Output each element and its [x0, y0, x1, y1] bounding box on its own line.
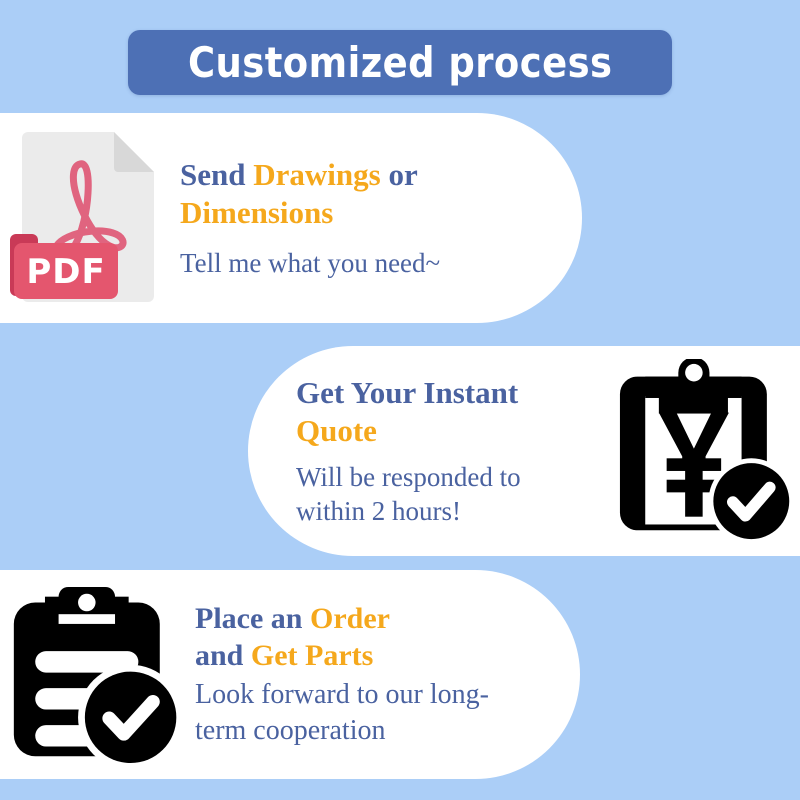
step-2-subtext: Will be responded to within 2 hours! — [296, 460, 586, 528]
heading-segment-highlight: Order — [310, 602, 390, 635]
heading-segment: Send — [180, 157, 253, 192]
pdf-file-icon: PDF — [0, 126, 180, 311]
step-3-heading: Place an Order and Get Parts — [195, 601, 495, 674]
step-card-3: Place an Order and Get Parts Look forwar… — [0, 570, 580, 779]
step-card-1: PDF Send Drawings or Dimensions Tell me … — [0, 113, 582, 323]
heading-segment-highlight: Drawings — [253, 157, 380, 192]
pdf-file-icon-graphic: PDF — [10, 126, 170, 311]
heading-segment-highlight: Get Parts — [251, 639, 373, 672]
heading-segment: Place an — [195, 602, 310, 635]
clipboard-yen-check-icon — [608, 359, 800, 544]
step-1-heading: Send Drawings or Dimensions — [180, 156, 440, 232]
step-1-text: Send Drawings or Dimensions Tell me what… — [180, 156, 440, 280]
step-3-text: Place an Order and Get Parts Look forwar… — [195, 601, 495, 748]
step-2-text: Get Your Instant Quote Will be responded… — [296, 374, 586, 528]
heading-segment: Get Your Instant — [296, 375, 518, 410]
svg-text:PDF: PDF — [26, 252, 105, 292]
clipboard-check-icon — [0, 585, 195, 765]
step-1-subtext: Tell me what you need~ — [180, 246, 440, 280]
clipboard-yen-check-icon-graphic — [618, 359, 798, 544]
step-2-heading: Get Your Instant Quote — [296, 374, 586, 450]
heading-segment-highlight: Dimensions — [180, 195, 333, 230]
heading-segment: and — [195, 639, 251, 672]
clipboard-check-icon-graphic — [8, 585, 188, 765]
infographic-poster: Customized process PDF Sen — [0, 0, 800, 800]
heading-segment: or — [381, 157, 418, 192]
heading-segment-highlight: Quote — [296, 413, 377, 448]
step-3-subtext: Look forward to our long-term cooperatio… — [195, 677, 495, 748]
step-card-2: Get Your Instant Quote Will be responded… — [248, 346, 800, 556]
title-banner: Customized process — [128, 30, 672, 95]
page-title: Customized process — [188, 42, 613, 84]
